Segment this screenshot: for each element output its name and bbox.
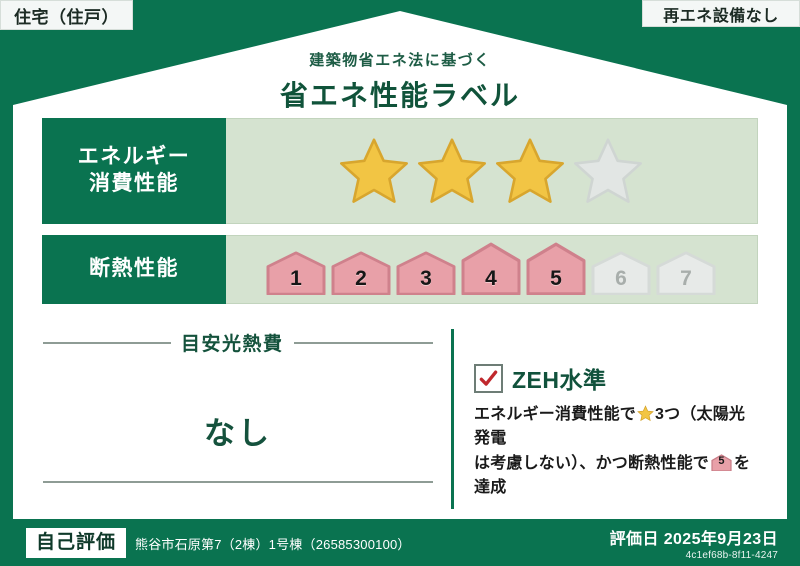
- inline-star-icon: [637, 405, 654, 422]
- star-empty-icon: [572, 136, 644, 206]
- tab-renewable-energy: 再エネ設備なし: [642, 0, 800, 27]
- zeh-title: ZEH水準: [512, 361, 607, 395]
- insulation-level-number: 1: [290, 267, 302, 295]
- insulation-level-number: 5: [550, 267, 562, 295]
- label-card-inner: 建築物省エネ法に基づく 省エネ性能ラベル エネルギー 消費性能: [13, 11, 787, 519]
- insulation-level-number: 6: [615, 267, 627, 295]
- inline-house-icon: 5: [711, 454, 732, 471]
- insulation-level-1: 1: [265, 251, 327, 295]
- insulation-level-number: 4: [485, 267, 497, 295]
- utility-cost-heading-text: 目安光熱費: [181, 329, 284, 356]
- header-subtitle: 建築物省エネ法に基づく: [13, 49, 787, 70]
- header-titles: 建築物省エネ法に基づく 省エネ性能ラベル: [13, 49, 787, 114]
- zeh-checkbox: [474, 364, 503, 393]
- energy-label-line2: 消費性能: [89, 171, 179, 198]
- utility-cost-value: なし: [43, 408, 433, 453]
- utility-cost-heading: 目安光熱費: [43, 329, 433, 356]
- star-filled-icon: [338, 136, 410, 206]
- energy-consumption-row: エネルギー 消費性能: [43, 119, 757, 223]
- insulation-level-6: 6: [590, 251, 652, 295]
- label-id: 4c1ef68b-8f11-4247: [610, 550, 778, 561]
- zeh-desc-part1: エネルギー消費性能で: [474, 406, 636, 423]
- insulation-level-3: 3: [395, 251, 457, 295]
- insulation-scale: 1234567: [265, 242, 717, 297]
- insulation-level-2: 2: [330, 251, 392, 295]
- zeh-desc-part3: は考慮しない）、かつ断熱性能で: [474, 455, 709, 472]
- zeh-heading: ZEH水準: [474, 361, 757, 395]
- property-address: 熊谷市石原第7（2棟）1号棟（26585300100）: [135, 534, 411, 553]
- energy-consumption-label: エネルギー 消費性能: [43, 119, 225, 223]
- insulation-value: 1234567: [225, 236, 757, 303]
- metric-rows: エネルギー 消費性能 断熱性能 1234567: [43, 119, 757, 316]
- insulation-label-text: 断熱性能: [89, 256, 179, 283]
- insulation-level-number: 2: [355, 267, 367, 295]
- insulation-level-number: 7: [680, 267, 692, 295]
- evaluation-date: 評価日 2025年9月23日: [610, 525, 778, 549]
- star-rating: [338, 136, 644, 206]
- insulation-level-4: 4: [460, 242, 522, 295]
- label-card: 建築物省エネ法に基づく 省エネ性能ラベル エネルギー 消費性能: [13, 11, 787, 519]
- lower-section: 目安光熱費 なし ZEH水準 エネルギ: [43, 329, 757, 509]
- insulation-label: 断熱性能: [43, 236, 225, 303]
- insulation-level-5: 5: [525, 242, 587, 295]
- energy-label-root: 住宅（住戸） 再エネ設備なし 建築物省エネ法に基づく 省エネ性能ラベル エネルギ…: [0, 0, 800, 566]
- inline-house-number: 5: [711, 454, 732, 471]
- utility-cost-block: 目安光熱費 なし: [43, 329, 451, 509]
- check-icon: [479, 369, 498, 388]
- zeh-description: エネルギー消費性能で 3つ（太陽光発電 は考慮しない）、かつ断熱性能で 5を達成: [474, 403, 757, 500]
- energy-consumption-value: [225, 119, 757, 223]
- footer-meta: 評価日 2025年9月23日 4c1ef68b-8f11-4247: [610, 525, 778, 561]
- utility-cost-divider: [43, 481, 433, 483]
- energy-label-line1: エネルギー: [78, 144, 191, 171]
- insulation-level-7: 7: [655, 251, 717, 295]
- insulation-level-number: 3: [420, 267, 432, 295]
- page-title: 省エネ性能ラベル: [13, 74, 787, 114]
- evaluation-type-badge: 自己評価: [26, 528, 126, 558]
- tab-building-type: 住宅（住戸）: [0, 0, 133, 30]
- zeh-block: ZEH水準 エネルギー消費性能で 3つ（太陽光発電 は考慮しない）、かつ断熱性能…: [451, 329, 757, 509]
- footer-bar: 自己評価 熊谷市石原第7（2棟）1号棟（26585300100） 評価日 202…: [0, 520, 800, 566]
- star-filled-icon: [494, 136, 566, 206]
- star-filled-icon: [416, 136, 488, 206]
- insulation-row: 断熱性能 1234567: [43, 236, 757, 303]
